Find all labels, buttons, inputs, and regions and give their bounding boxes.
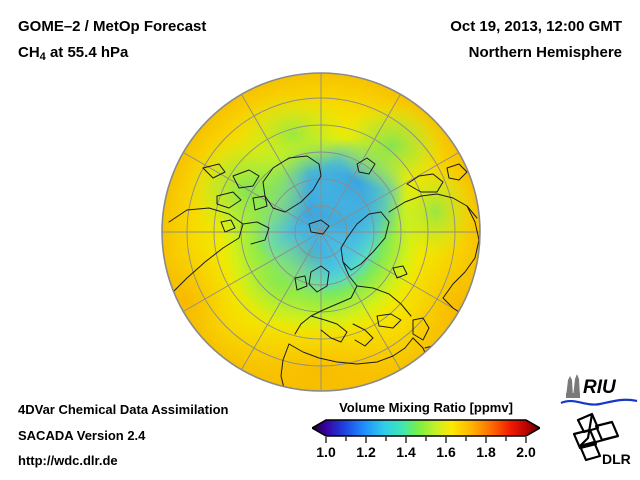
colorbar-title: Volume Mixing Ratio [ppmv] <box>312 400 540 415</box>
riu-wordmark: RIU <box>583 377 617 398</box>
riu-logo: RIU <box>560 371 638 411</box>
datetime-label: Oct 19, 2013, 12:00 GMT <box>450 18 622 35</box>
assimilation-label: 4DVar Chemical Data Assimilation <box>18 402 229 417</box>
colorbar-tick-labels: 1.0 1.2 1.4 1.6 1.8 2.0 <box>312 444 540 466</box>
colorbar-scale <box>312 418 540 444</box>
species-prefix: CH <box>18 44 40 61</box>
globe-map <box>161 72 481 392</box>
region-label: Northern Hemisphere <box>469 44 622 61</box>
colorbar-tick-4: 1.8 <box>476 444 495 460</box>
version-label: SACADA Version 2.4 <box>18 428 145 443</box>
dlr-logo: DLR <box>566 412 638 468</box>
colorbar: Volume Mixing Ratio [ppmv] <box>312 400 540 472</box>
species-level-title: CH4 at 55.4 hPa <box>18 44 128 63</box>
riu-wave-icon <box>561 400 637 405</box>
colorbar-tick-1: 1.2 <box>356 444 375 460</box>
colorbar-tick-3: 1.6 <box>436 444 455 460</box>
website-link[interactable]: http://wdc.dlr.de <box>18 453 118 468</box>
colorbar-tick-5: 2.0 <box>516 444 535 460</box>
colorbar-tick-2: 1.4 <box>396 444 415 460</box>
species-suffix: at 55.4 hPa <box>46 44 129 61</box>
cathedral-spires-icon <box>566 374 580 398</box>
dlr-wordmark: DLR <box>602 451 631 467</box>
colorbar-ticks <box>326 437 526 443</box>
instrument-title: GOME–2 / MetOp Forecast <box>18 18 206 35</box>
colorbar-tick-0: 1.0 <box>316 444 335 460</box>
